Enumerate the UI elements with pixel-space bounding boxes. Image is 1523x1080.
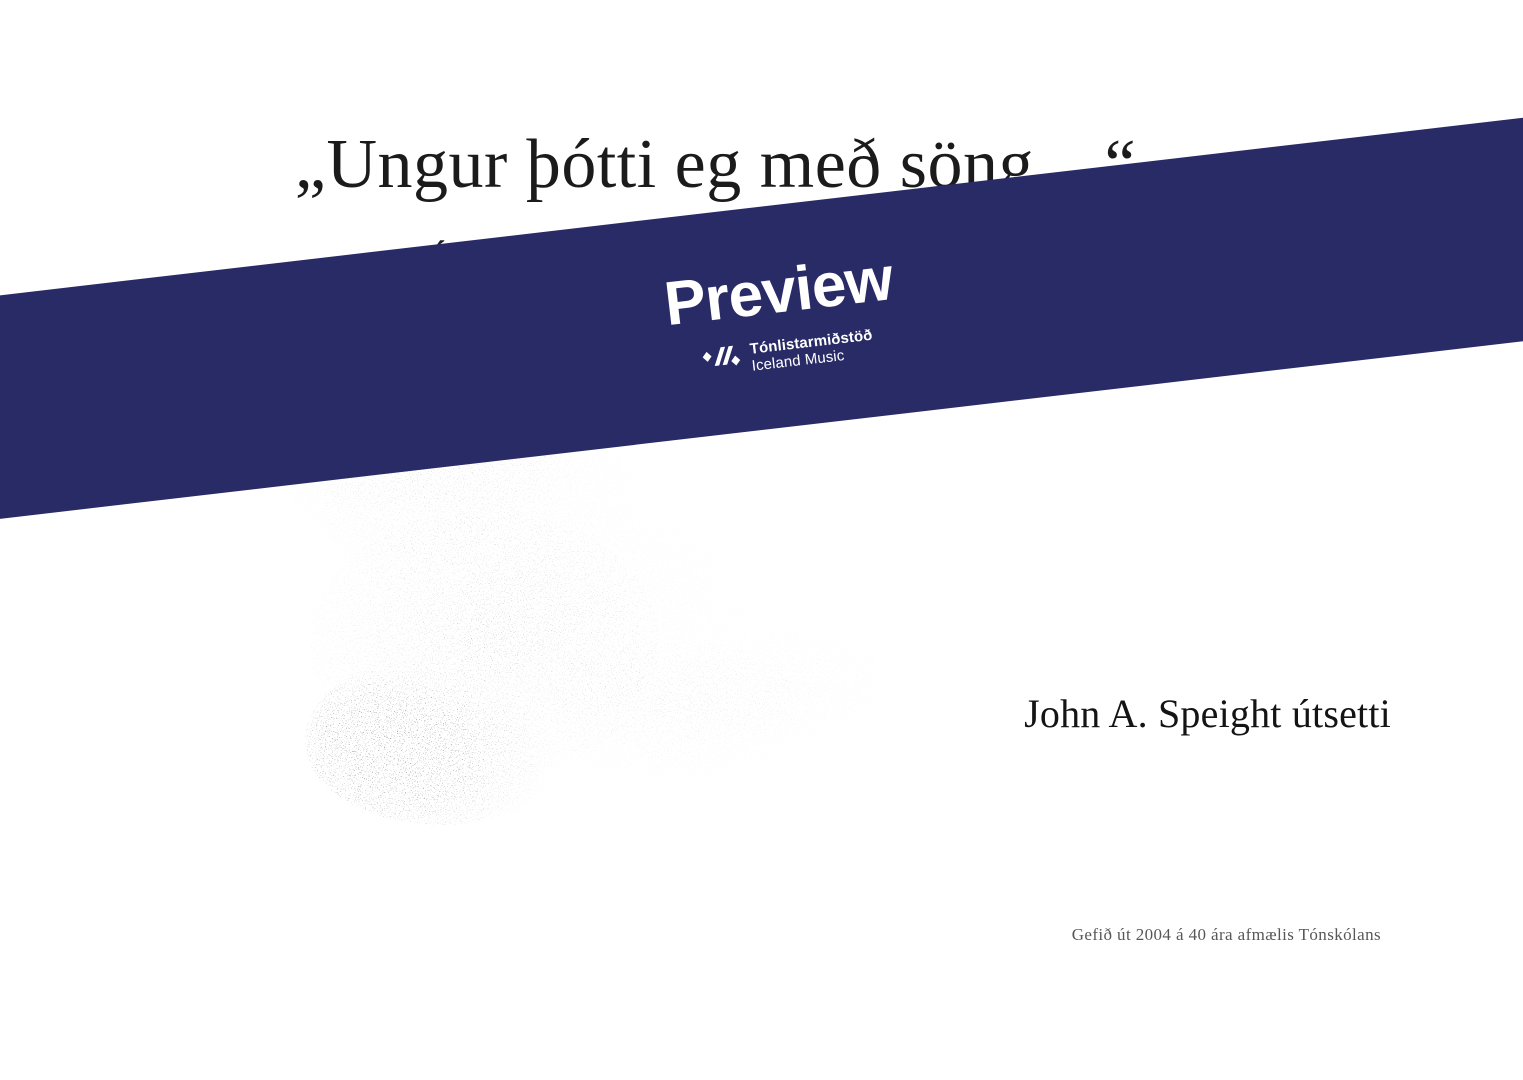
arranger-credit: John A. Speight útsetti bbox=[0, 690, 1391, 737]
iceland-music-logo: Tónlistarmiðstöð Iceland Music bbox=[696, 326, 875, 381]
logo-wordmark: Tónlistarmiðstöð Iceland Music bbox=[749, 326, 875, 375]
preview-label: Preview bbox=[661, 248, 895, 336]
iceland-music-logo-mark-icon bbox=[696, 343, 743, 380]
cover-page: „Ungur þótti eg með söng…“ Íslensk þjóðl… bbox=[0, 0, 1523, 1080]
cover-artwork-speckle bbox=[1020, 765, 1350, 885]
imprint-line: Gefið út 2004 á 40 ára afmælis Tónskólan… bbox=[0, 925, 1381, 945]
